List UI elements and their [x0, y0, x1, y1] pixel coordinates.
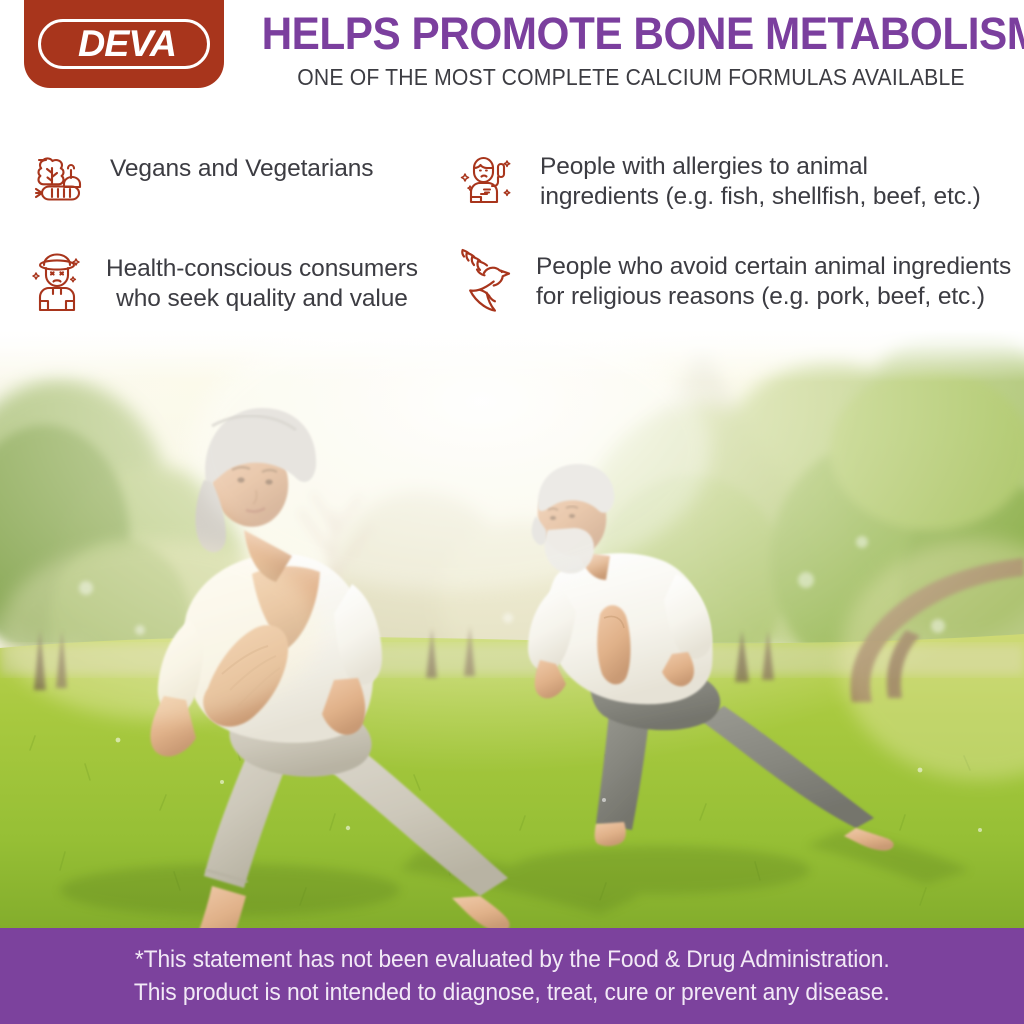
benefit-item-vegans: Vegans and Vegetarians	[24, 146, 454, 220]
person-health-icon	[20, 246, 94, 320]
benefit-line-1: Health-conscious consumers	[106, 255, 418, 282]
disclaimer-banner: *This statement has not been evaluated b…	[0, 928, 1024, 1024]
logo-pill-outline: DEVA	[38, 19, 210, 69]
benefit-item-allergies: People with allergies to animal ingredie…	[454, 144, 1014, 218]
vegetables-icon	[24, 146, 98, 220]
benefit-item-label: People with allergies to animal ingredie…	[540, 144, 981, 212]
benefit-item-label: Health-conscious consumers who seek qual…	[106, 246, 418, 314]
person-allergy-icon	[454, 144, 528, 218]
page-title: HELPS PROMOTE BONE METABOLISM*	[262, 8, 1001, 60]
benefit-item-label: Vegans and Vegetarians	[110, 146, 373, 184]
lifestyle-photo	[0, 330, 1024, 928]
benefit-line-1: Vegans and Vegetarians	[110, 155, 373, 182]
benefit-item-religious: People who avoid certain animal ingredie…	[450, 244, 1022, 318]
benefits-list: Vegans and Vegetarians	[0, 140, 1024, 330]
benefit-line-1: People who avoid certain animal ingredie…	[536, 253, 1011, 280]
page-subtitle: ONE OF THE MOST COMPLETE CALCIUM FORMULA…	[269, 64, 992, 91]
product-infographic: DEVA HELPS PROMOTE BONE METABOLISM* ONE …	[0, 0, 1024, 1024]
logo-wordmark: DEVA	[39, 22, 214, 66]
benefit-line-2: for religious reasons (e.g. pork, beef, …	[536, 282, 1011, 312]
benefit-item-label: People who avoid certain animal ingredie…	[536, 244, 1011, 312]
benefit-line-2: ingredients (e.g. fish, shellfish, beef,…	[540, 182, 981, 212]
disclaimer-line-2: This product is not intended to diagnose…	[134, 976, 890, 1009]
benefit-item-health-conscious: Health-conscious consumers who seek qual…	[20, 246, 450, 320]
benefit-line-1: People with allergies to animal	[540, 153, 868, 180]
benefit-line-2: who seek quality and value	[106, 284, 418, 314]
dove-olive-branch-icon	[450, 244, 524, 318]
photo-illustration	[0, 330, 1024, 928]
disclaimer-line-1: *This statement has not been evaluated b…	[135, 943, 890, 976]
deva-logo[interactable]: DEVA	[24, 0, 224, 88]
header: DEVA HELPS PROMOTE BONE METABOLISM* ONE …	[0, 0, 1024, 118]
